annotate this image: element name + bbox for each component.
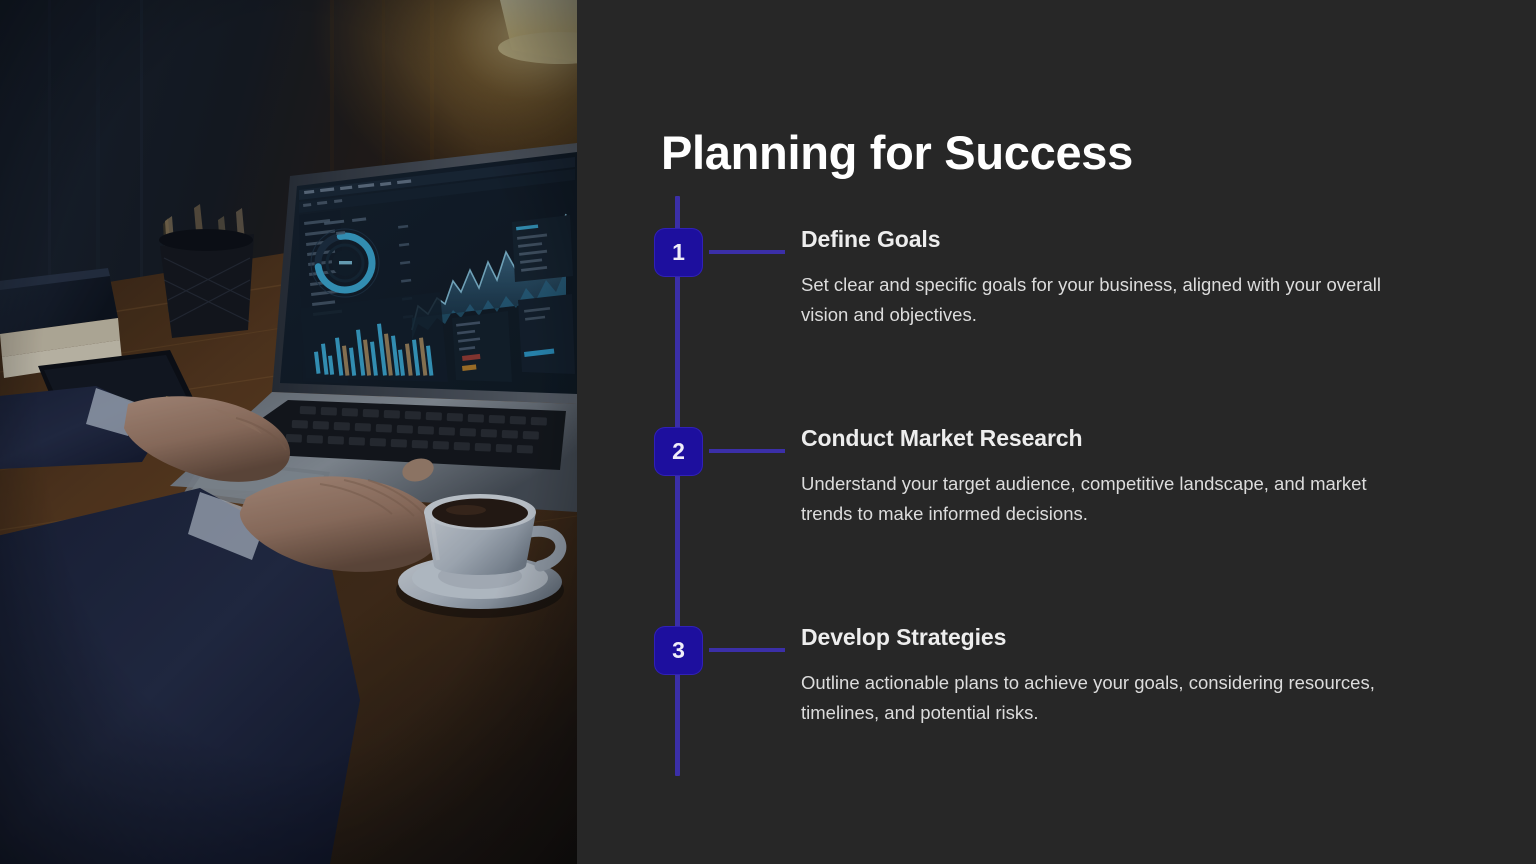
slide-root: Planning for Success 1 Define Goals Set … (0, 0, 1536, 864)
step-number-badge: 3 (654, 626, 703, 675)
step-body: Define Goals Set clear and specific goal… (801, 225, 1421, 330)
page-title: Planning for Success (661, 127, 1133, 179)
office-scene-illustration (0, 0, 577, 864)
step-connector-line (709, 449, 785, 453)
content-panel: Planning for Success 1 Define Goals Set … (577, 0, 1536, 864)
step-number-badge: 1 (654, 228, 703, 277)
hero-photo (0, 0, 577, 864)
step-title: Develop Strategies (801, 623, 1421, 652)
timeline-list: 1 Define Goals Set clear and specific go… (661, 196, 1441, 796)
step-description: Set clear and specific goals for your bu… (801, 270, 1401, 330)
step-title: Conduct Market Research (801, 424, 1421, 453)
night-tint (0, 0, 577, 864)
step-description: Outline actionable plans to achieve your… (801, 668, 1401, 728)
step-body: Develop Strategies Outline actionable pl… (801, 623, 1421, 728)
step-description: Understand your target audience, competi… (801, 469, 1401, 529)
step-body: Conduct Market Research Understand your … (801, 424, 1421, 529)
step-title: Define Goals (801, 225, 1421, 254)
timeline-spine (675, 196, 680, 776)
step-connector-line (709, 648, 785, 652)
step-number-badge: 2 (654, 427, 703, 476)
step-connector-line (709, 250, 785, 254)
